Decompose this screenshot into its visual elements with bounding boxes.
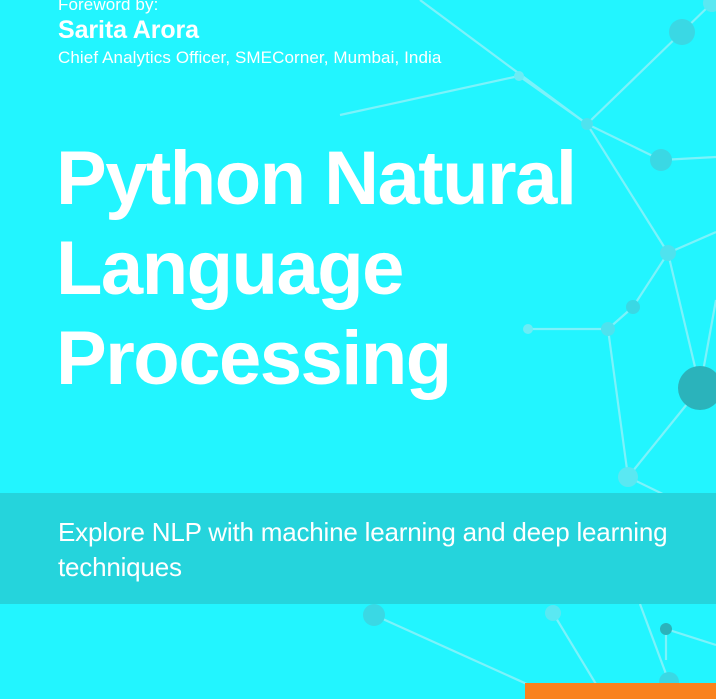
foreword-block: Foreword by: Sarita Arora Chief Analytic… (58, 0, 658, 69)
network-edge (340, 76, 519, 115)
network-edge (519, 76, 587, 124)
foreword-author-role: Chief Analytics Officer, SMECorner, Mumb… (58, 47, 658, 69)
orange-accent-bar (525, 683, 716, 699)
title-line-1: Python Natural (56, 134, 716, 224)
network-node (669, 19, 695, 45)
network-node (660, 623, 672, 635)
network-node (514, 71, 524, 81)
subtitle-band: Explore NLP with machine learning and de… (0, 493, 716, 604)
book-subtitle: Explore NLP with machine learning and de… (58, 515, 716, 585)
network-node (703, 0, 716, 12)
network-node (363, 604, 385, 626)
network-edge (666, 629, 716, 645)
foreword-author-name: Sarita Arora (58, 16, 658, 45)
network-edge (682, 3, 712, 32)
title-line-2: Language (56, 224, 716, 314)
foreword-label: Foreword by: (58, 0, 658, 15)
book-title: Python Natural Language Processing (56, 134, 716, 404)
network-node (618, 467, 638, 487)
network-edge (640, 604, 669, 682)
title-line-3: Processing (56, 314, 716, 404)
book-cover: Foreword by: Sarita Arora Chief Analytic… (0, 0, 716, 699)
network-node (581, 118, 593, 130)
network-node (545, 605, 561, 621)
